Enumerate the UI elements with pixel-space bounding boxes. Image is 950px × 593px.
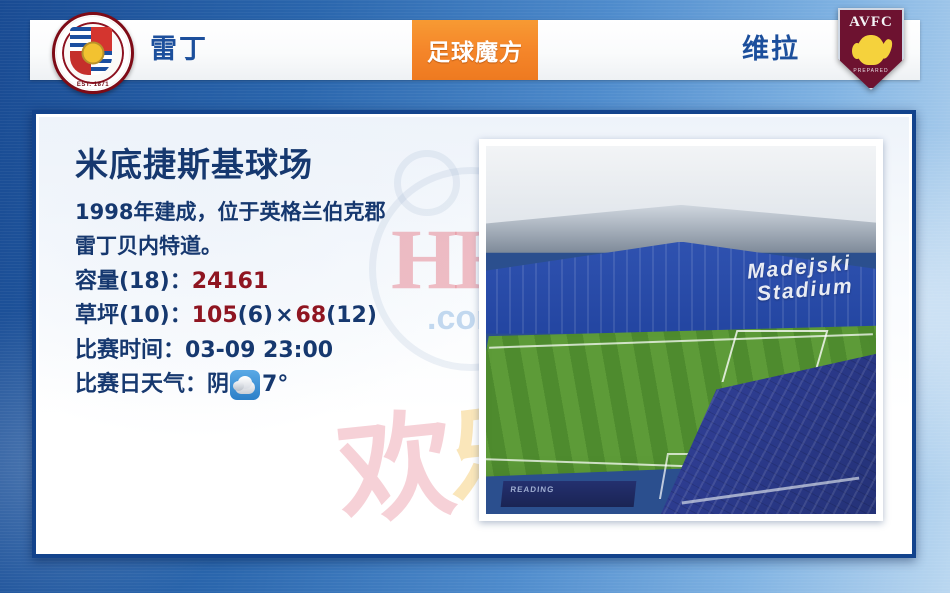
brand-logo[interactable]: 足球魔方 <box>412 20 538 80</box>
match-time-value: 03-09 23:00 <box>185 338 333 363</box>
photo-advert-board: READING <box>500 481 635 507</box>
brand-logo-label: 足球魔方 <box>427 33 523 67</box>
madejski-stadium-photo: Madejski Stadium READING <box>486 146 876 514</box>
villa-lion-icon <box>857 35 885 65</box>
capacity-value: 24161 <box>192 269 269 294</box>
weather-temperature: 7° <box>262 368 288 402</box>
madejski-stadium-photo-frame: Madejski Stadium READING <box>479 139 883 521</box>
weather-label: 比赛日天气： <box>75 368 207 402</box>
photo-advert-board-text: READING <box>510 484 555 493</box>
weather-condition: 阴 <box>207 368 229 402</box>
app-root: EST. 1871 雷丁 足球魔方 维拉 AVFC PREPARED HHH .… <box>0 0 950 593</box>
stadium-info-block: 米底捷斯基球场 1998年建成，位于英格兰伯克郡 雷丁贝内特道。 容量(18)：… <box>75 147 495 402</box>
stadium-title: 米底捷斯基球场 <box>75 147 495 183</box>
cloudy-icon <box>230 370 260 400</box>
pitch-width-rank: (12) <box>326 303 377 328</box>
photo-stand-signage: Madejski Stadium <box>746 252 854 307</box>
villa-motto: PREPARED <box>838 68 904 74</box>
villa-initials: AVFC <box>838 14 904 31</box>
pitch-size-label: 草坪(10)： <box>75 303 192 328</box>
pitch-length-rank: (6) <box>238 303 273 328</box>
match-header-bar: EST. 1871 雷丁 足球魔方 维拉 AVFC PREPARED <box>30 20 920 80</box>
stadium-description-line-1: 1998年建成，位于英格兰伯克郡 <box>75 197 495 229</box>
aston-villa-crest: AVFC PREPARED <box>838 8 904 90</box>
pitch-size-row: 草坪(10)：105(6)×68(12) <box>75 299 495 333</box>
home-team-name: 雷丁 <box>150 20 208 80</box>
reading-fc-crest: EST. 1871 <box>52 12 134 94</box>
pitch-size-times: × <box>273 303 295 328</box>
header-inner: EST. 1871 雷丁 足球魔方 维拉 AVFC PREPARED <box>30 20 920 80</box>
crest-established-text: EST. 1871 <box>55 82 131 88</box>
weather-row: 比赛日天气：阴 7° <box>75 368 495 402</box>
match-time-label: 比赛时间： <box>75 338 185 363</box>
pitch-width-value: 68 <box>296 303 327 328</box>
away-team-name: 维拉 <box>742 20 800 80</box>
stadium-description-line-2: 雷丁贝内特道。 <box>75 231 495 263</box>
crest-center-roundel <box>82 42 105 65</box>
match-time-row: 比赛时间：03-09 23:00 <box>75 334 495 368</box>
pitch-length-value: 105 <box>192 303 238 328</box>
capacity-row: 容量(18)：24161 <box>75 265 495 299</box>
stadium-info-card: HHH .com 欢 乐 米底捷斯基球场 1998年建成，位于英格兰伯克郡 雷丁… <box>32 110 916 558</box>
capacity-label: 容量(18)： <box>75 269 192 294</box>
stadium-info-card-inner: HHH .com 欢 乐 米底捷斯基球场 1998年建成，位于英格兰伯克郡 雷丁… <box>36 114 912 554</box>
